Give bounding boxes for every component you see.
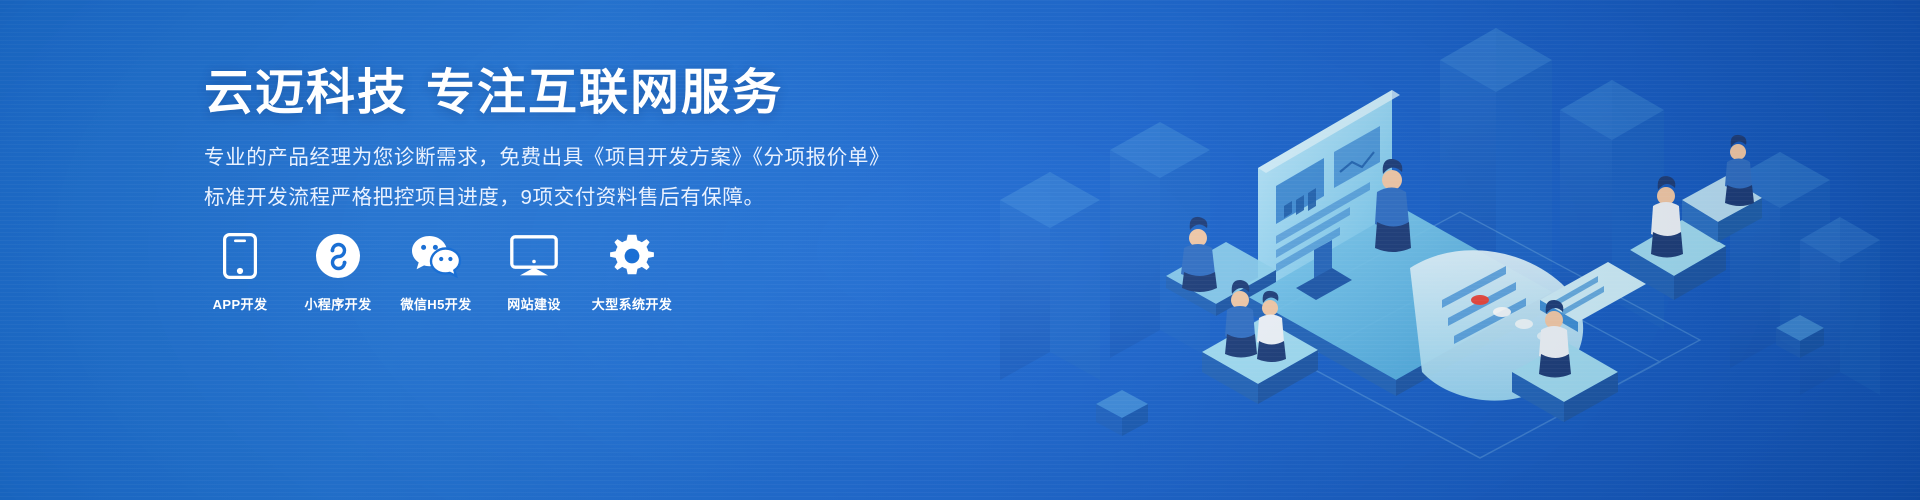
- headline-brand: 云迈科技: [204, 66, 408, 120]
- hero-subtitle: 专业的产品经理为您诊断需求，免费出具《项目开发方案》《分项报价单》 标准开发流程…: [204, 121, 904, 214]
- service-label: 网站建设: [507, 294, 561, 313]
- service-label: 微信H5开发: [400, 294, 471, 313]
- service-item-wechat-h5[interactable]: 微信H5开发: [400, 232, 472, 313]
- hero-banner: 云迈科技专注互联网服务 专业的产品经理为您诊断需求，免费出具《项目开发方案》《分…: [0, 0, 1920, 500]
- service-item-large-system[interactable]: 大型系统开发: [596, 232, 668, 313]
- monitor-icon: [510, 232, 558, 280]
- service-item-app[interactable]: APP开发: [204, 232, 276, 313]
- service-item-miniprogram[interactable]: 小程序开发: [302, 232, 374, 313]
- headline-tagline: 专注互联网服务: [426, 66, 783, 120]
- service-label: 小程序开发: [304, 294, 371, 313]
- service-label: APP开发: [213, 294, 268, 313]
- mini-program-icon: [315, 232, 361, 280]
- service-label: 大型系统开发: [592, 294, 672, 313]
- page-title: 云迈科技专注互联网服务: [204, 66, 904, 121]
- service-list: APP开发 小程序开发: [204, 232, 668, 313]
- hero-copy: 云迈科技专注互联网服务 专业的产品经理为您诊断需求，免费出具《项目开发方案》《分…: [204, 66, 904, 222]
- illustration-isometric-scene: [940, 0, 1920, 500]
- mobile-phone-icon: [223, 232, 257, 280]
- service-item-website[interactable]: 网站建设: [498, 232, 570, 313]
- person-upper-right: [1725, 135, 1754, 206]
- gear-icon: [610, 232, 654, 280]
- wechat-icon: [410, 232, 462, 280]
- subtitle-line-1: 专业的产品经理为您诊断需求，免费出具《项目开发方案》《分项报价单》: [204, 143, 904, 174]
- subtitle-line-2: 标准开发流程严格把控项目进度，9项交付资料售后有保障。: [204, 183, 904, 214]
